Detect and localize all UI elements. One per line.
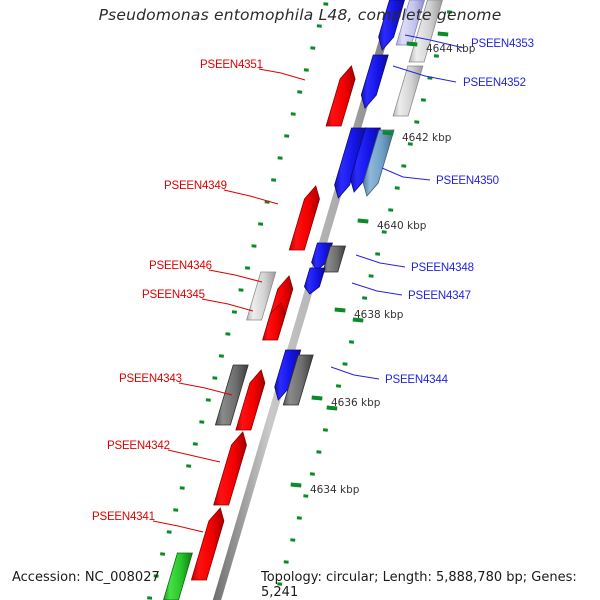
gene-name-label[interactable]: PSEEN4346 <box>149 260 212 272</box>
gene-name-label[interactable]: PSEEN4352 <box>463 77 526 89</box>
gene-name-label[interactable]: PSEEN4341 <box>92 511 155 523</box>
label-leader-line <box>153 521 203 532</box>
scale-tick-label: 4634 kbp <box>310 484 359 496</box>
gene-arrow[interactable] <box>304 268 325 294</box>
gene-arrow[interactable] <box>214 432 247 505</box>
label-leader-line <box>209 270 262 282</box>
scale-tick-major <box>335 310 346 311</box>
gene-name-label[interactable]: PSEEN4347 <box>408 290 471 302</box>
scale-tick-major <box>358 221 369 222</box>
scale-tick-major <box>407 44 418 45</box>
gene-name-label[interactable]: PSEEN4342 <box>107 440 170 452</box>
gene-arrow[interactable] <box>326 66 355 126</box>
label-leader-line <box>179 383 232 395</box>
gene-name-label[interactable]: PSEEN4343 <box>119 373 182 385</box>
scale-tick-label: 4640 kbp <box>377 220 426 232</box>
label-leader-line <box>202 299 253 311</box>
label-leader-line <box>352 283 402 295</box>
gene-name-label[interactable]: PSEEN4344 <box>385 374 448 386</box>
page-title: Pseudomonas entomophila L48, complete ge… <box>0 6 600 24</box>
gene-name-label[interactable]: PSEEN4353 <box>471 38 534 50</box>
gene-arrow[interactable] <box>361 55 388 108</box>
scale-tick-label: 4644 kbp <box>426 43 475 55</box>
genome-map-viewer: Pseudomonas entomophila L48, complete ge… <box>0 0 600 600</box>
accession-text: Accession: NC_008027 <box>12 570 160 585</box>
gene-arrow[interactable] <box>289 186 319 250</box>
gene-name-label[interactable]: PSEEN4348 <box>411 262 474 274</box>
scale-tick-major <box>383 133 394 134</box>
label-leader-line <box>224 190 278 204</box>
scale-tick-major <box>291 485 302 486</box>
gene-name-label[interactable]: PSEEN4350 <box>436 175 499 187</box>
label-leader-line <box>356 255 405 267</box>
genome-summary-text: Topology: circular; Length: 5,888,780 bp… <box>261 570 600 600</box>
scale-tick-label: 4636 kbp <box>331 397 380 409</box>
gene-arrow[interactable] <box>191 508 224 580</box>
label-leader-line <box>393 66 456 82</box>
scale-tick-major <box>312 398 323 399</box>
gene-name-label[interactable]: PSEEN4351 <box>200 59 263 71</box>
gene-name-label[interactable]: PSEEN4345 <box>142 289 205 301</box>
scale-tick-label: 4642 kbp <box>402 132 451 144</box>
label-leader-line <box>382 168 430 180</box>
scale-tick-major <box>438 34 449 35</box>
label-leader-line <box>168 450 220 462</box>
gene-name-label[interactable]: PSEEN4349 <box>164 180 227 192</box>
gene-arrow[interactable] <box>164 553 193 600</box>
label-leader-line <box>331 367 379 379</box>
label-leader-line <box>259 69 305 80</box>
scale-tick-label: 4638 kbp <box>354 309 403 321</box>
genome-map-canvas <box>0 0 600 600</box>
